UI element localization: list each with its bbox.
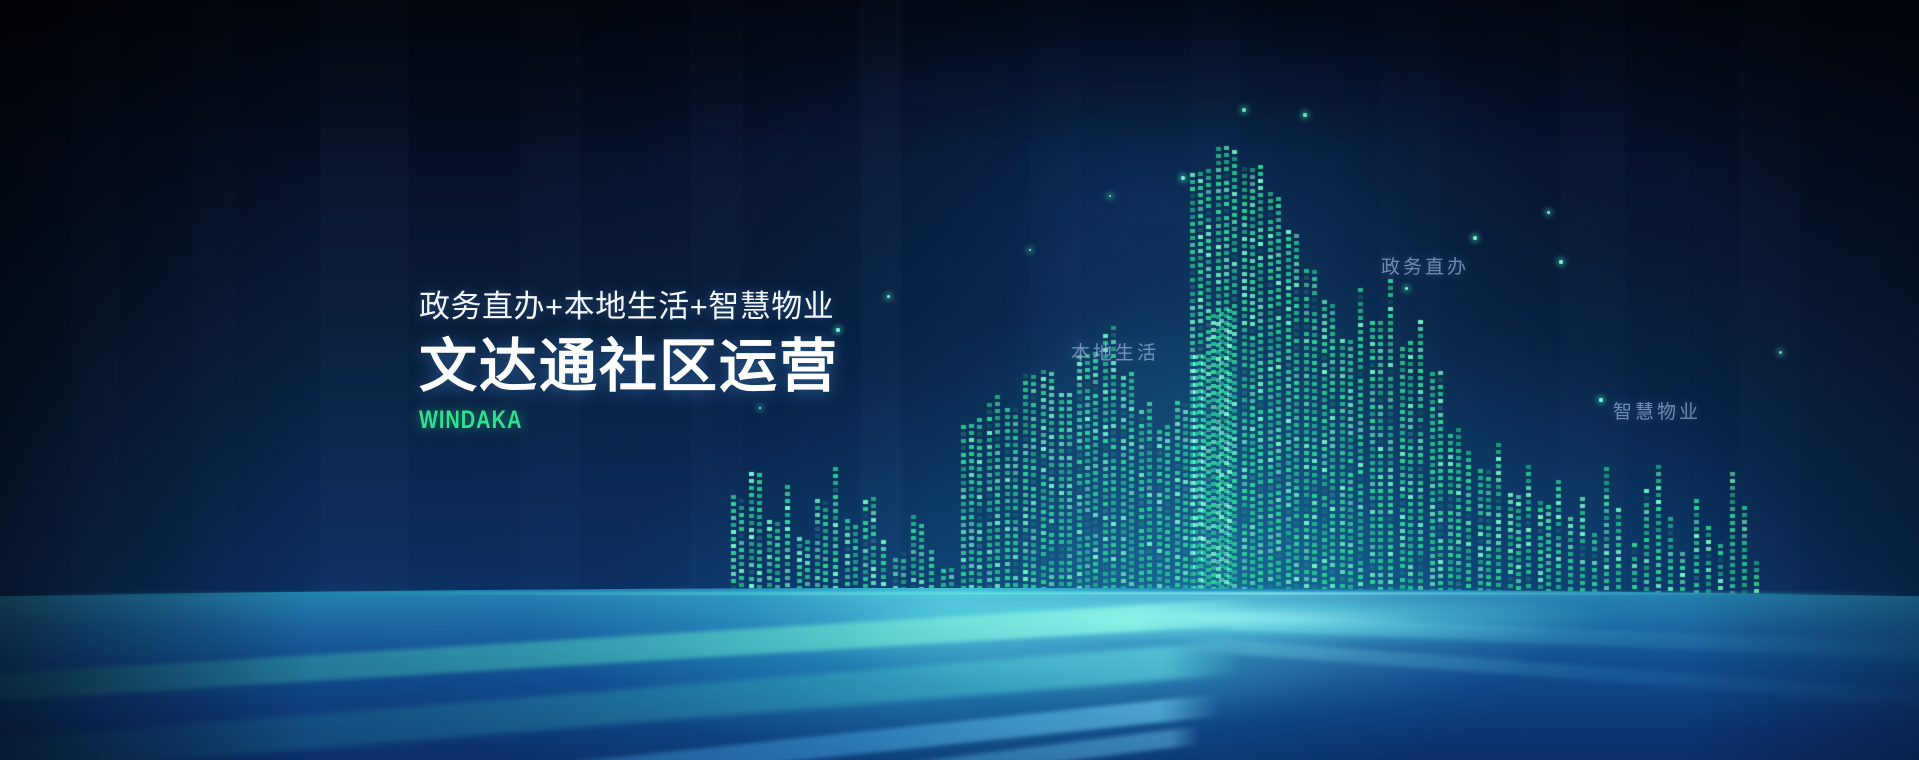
hero-title: 文达通社区运营: [419, 335, 1039, 400]
horizon-glow: [0, 576, 1919, 646]
hero-banner: 政务直办 本地生活 智慧物业 政务直办+本地生活+智慧物业 文达通社区运营 WI…: [0, 0, 1919, 760]
city-label-smart-property: 智慧物业: [1613, 397, 1701, 424]
horizon-rim-line: [0, 592, 1919, 595]
brand-wordmark: WINDAKA: [419, 406, 915, 435]
hero-copy-block: 政务直办+本地生活+智慧物业 文达通社区运营 WINDAKA: [419, 288, 1039, 435]
hero-subtitle: 政务直办+本地生活+智慧物业: [419, 288, 1039, 327]
city-label-government: 政务直办: [1381, 252, 1469, 279]
city-label-local-life: 本地生活: [1071, 338, 1159, 365]
